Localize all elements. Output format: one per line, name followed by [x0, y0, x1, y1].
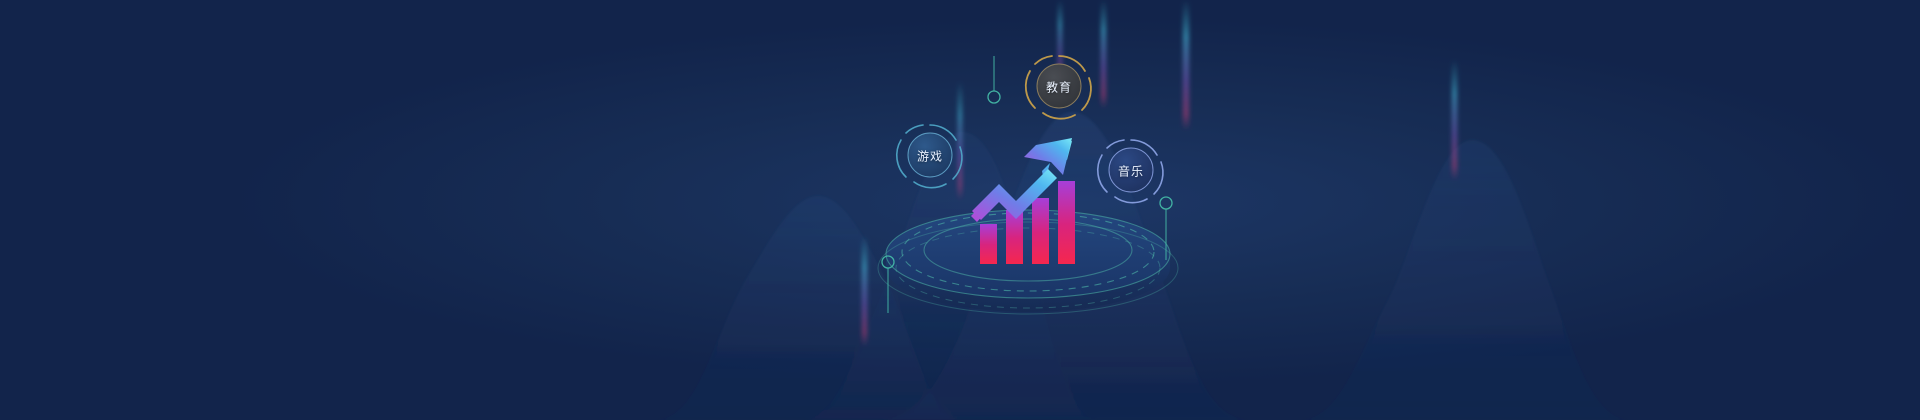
badge-hit-education[interactable]: [1029, 56, 1089, 116]
badge-hit-music[interactable]: [1101, 140, 1161, 200]
badge-hit-games[interactable]: [900, 125, 960, 185]
hero-banner: 游戏 教育 音乐: [0, 0, 1920, 420]
category-badge-layer: [0, 0, 1920, 420]
